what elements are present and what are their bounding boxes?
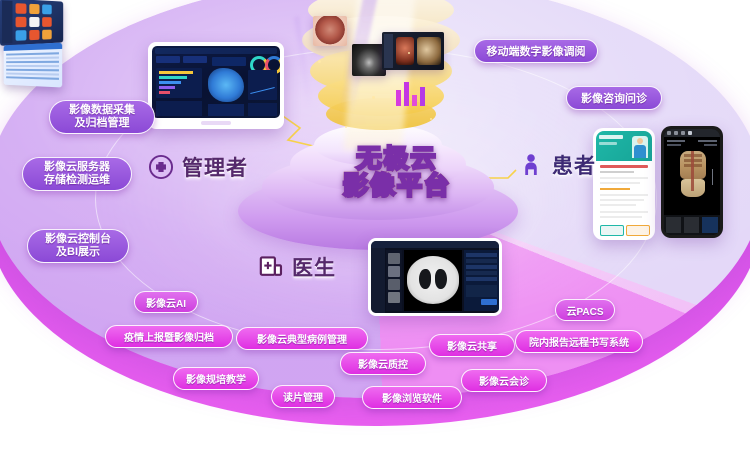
pill-cloud-console-bi[interactable]: 影像云控制台 及BI展示	[27, 229, 129, 263]
role-doctor-label: 医生	[292, 252, 336, 282]
platform-title-line2: 影像平台	[322, 173, 472, 200]
render-3d-image-tile	[382, 32, 444, 70]
pill-cloud-consultation[interactable]: 影像云会诊	[461, 369, 547, 392]
platform-title-line1: 无极云	[322, 146, 472, 173]
pill-cloud-pacs[interactable]: 云PACS	[555, 299, 615, 321]
ultrasound-image-tile	[352, 44, 386, 76]
monitor-stand	[201, 121, 231, 125]
sparkle	[318, 60, 321, 63]
medical-record-plus-icon	[258, 254, 284, 280]
plus-circle-icon	[148, 154, 174, 180]
pill-cloud-sharing[interactable]: 影像云共享	[429, 334, 515, 357]
pill-cloud-server-ops[interactable]: 影像云服务器 存储检测运维	[22, 157, 132, 191]
kiosk-icon-grid	[0, 0, 63, 46]
role-patient[interactable]: 患者	[518, 150, 596, 180]
pill-epidemic-report-archive[interactable]: 疫情上报暨影像归档	[105, 325, 233, 348]
spreadsheet-panel	[4, 43, 63, 88]
pill-reading-management[interactable]: 读片管理	[271, 385, 335, 408]
pill-training-education[interactable]: 影像规培教学	[173, 367, 259, 390]
role-doctor[interactable]: 医生	[258, 252, 336, 282]
pill-line-1: 影像数据采集	[69, 104, 135, 117]
pill-line-1: 影像云控制台	[45, 233, 111, 246]
pill-image-consultation[interactable]: 影像咨询问诊	[566, 86, 662, 110]
pill-line-1: 影像云服务器	[44, 161, 110, 174]
pill-remote-report-writing[interactable]: 院内报告远程书写系统	[515, 330, 643, 353]
pacs-viewer-monitor	[368, 238, 502, 316]
mobile-ct-viewer-phone	[661, 126, 723, 238]
pill-image-viewer-software[interactable]: 影像浏览软件	[362, 386, 462, 409]
bi-dashboard-monitor	[148, 42, 284, 129]
health-consult-phone	[593, 128, 655, 240]
pill-cloud-ai[interactable]: 影像云AI	[134, 291, 198, 313]
sparkle	[372, 96, 375, 99]
platform-title: 无极云 影像平台	[322, 146, 472, 200]
sparkle	[408, 52, 410, 54]
person-icon	[518, 152, 544, 178]
role-administrator[interactable]: 管理者	[148, 152, 248, 182]
pill-line-2: 及BI展示	[45, 246, 111, 259]
role-administrator-label: 管理者	[182, 152, 248, 182]
infographic-canvas: 管理者 医生 患者 无极云 影像平台 影像数据采集 及归档管理 影像云服务器 存…	[0, 0, 750, 450]
role-patient-label: 患者	[552, 150, 596, 180]
pill-line-2: 存储检测运维	[44, 174, 110, 187]
pill-cloud-quality-control[interactable]: 影像云质控	[340, 352, 426, 375]
pill-image-data-collection[interactable]: 影像数据采集 及归档管理	[49, 100, 155, 134]
sparkle	[345, 126, 347, 128]
pill-line-2: 及归档管理	[69, 117, 135, 130]
pill-mobile-image-access[interactable]: 移动端数字影像调阅	[474, 39, 598, 63]
sparkle	[430, 118, 432, 120]
bar-chart-panel	[392, 78, 438, 108]
pill-typical-case-management[interactable]: 影像云典型病例管理	[236, 327, 368, 350]
endoscopy-image-tile	[313, 16, 347, 46]
